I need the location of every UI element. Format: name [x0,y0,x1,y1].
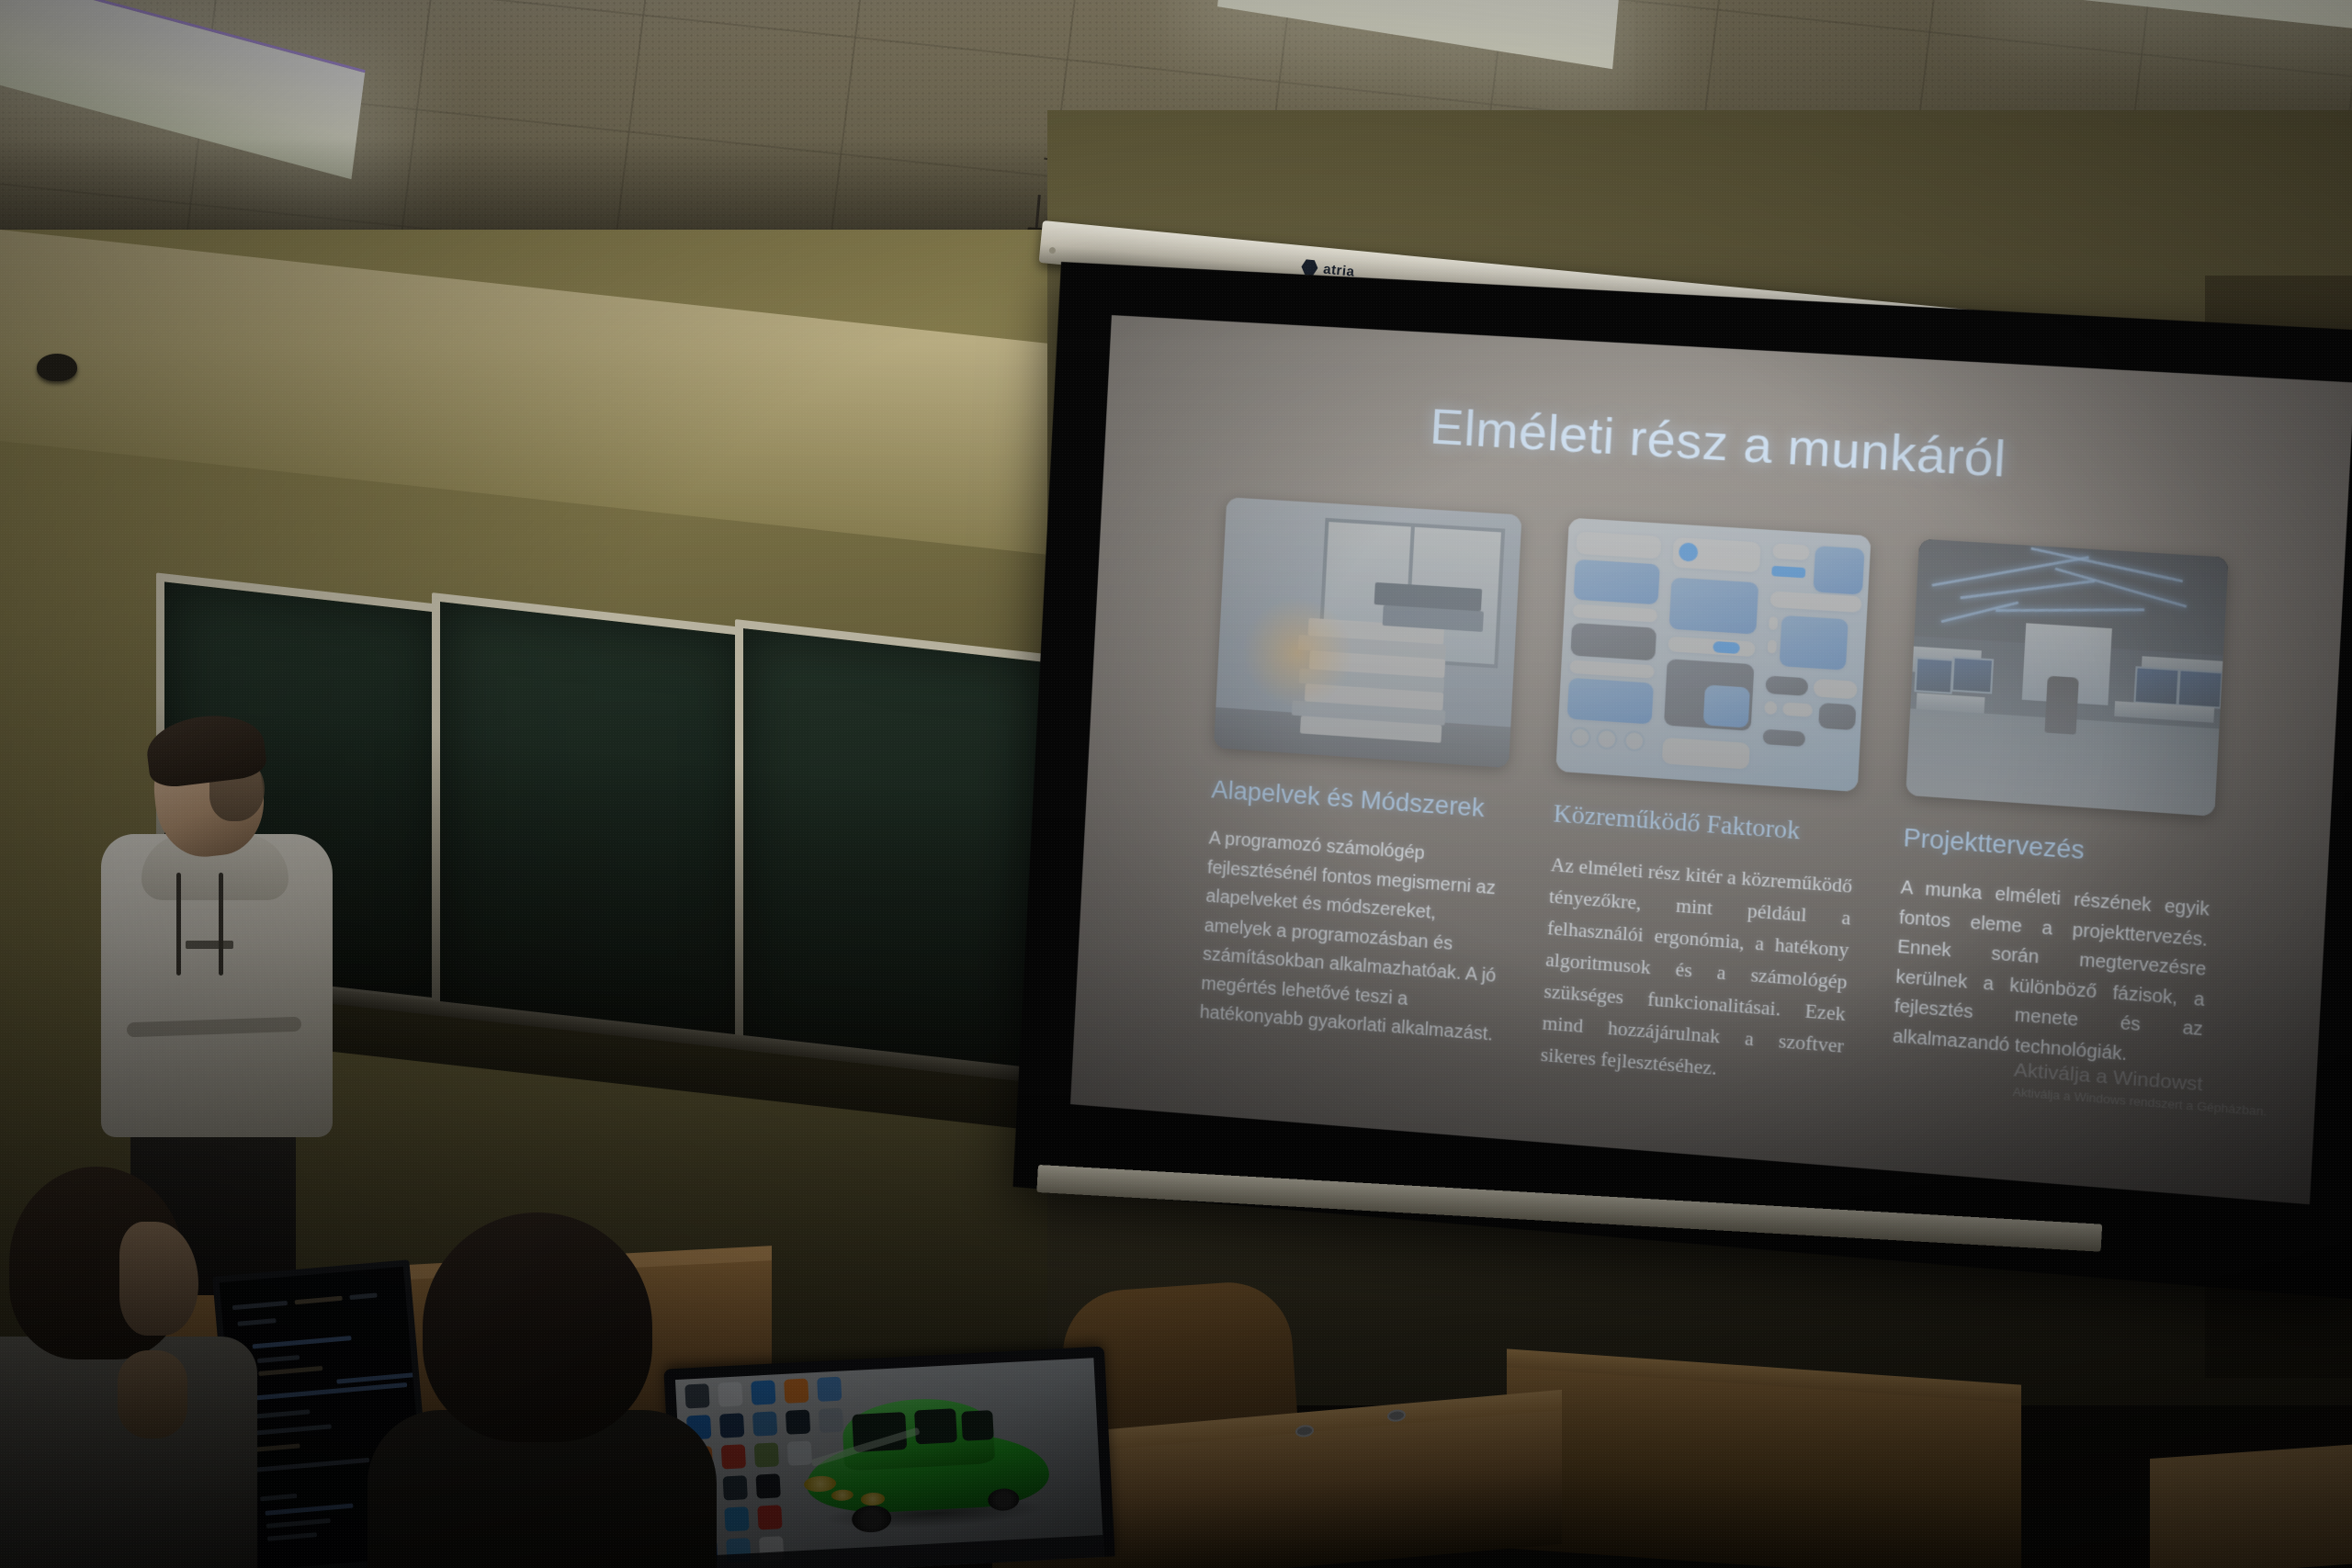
slide-column-2-heading: Közreműködő Faktorok [1553,799,1856,850]
student-centre [395,1213,698,1568]
slide: Elméleti rész a munkáról [1070,315,2352,1204]
slide-column-3: Projekttervezés A munka elméleti részéne… [1890,539,2229,1122]
student-centre-head [423,1213,652,1442]
chalkboard-panel-2 [432,592,752,1049]
laptop-centre-screen [675,1358,1104,1568]
slide-column-1: Alapelvek és Módszerek A programozó szám… [1198,497,1521,1066]
projection-screen[interactable]: Elméleti rész a munkáról [1012,262,2352,1301]
slide-column-1-body: A programozó számológép fejlesztésénél f… [1199,824,1504,1051]
wall-sensor-icon [37,354,77,381]
desk-far-right [2150,1444,2352,1568]
hoodie-string-right [219,873,223,976]
slide-image-office [1905,539,2228,817]
laptop-centre[interactable] [663,1347,1114,1568]
slide-column-3-body: A munka elméleti részének egyik fontos e… [1892,874,2210,1076]
classroom-scene: atria Elméleti rész a munkáról [0,0,2352,1568]
slide-column-3-heading: Projekttervezés [1903,824,2213,874]
housing-screw [1049,246,1057,254]
slide-image-books [1214,497,1522,768]
projection-surface: Elméleti rész a munkáról [1070,315,2352,1204]
slide-image-ui-mockups [1555,518,1871,793]
slide-columns: Alapelvek és Módszerek A programozó szám… [1198,497,2221,1122]
slide-column-2-body: Az elméleti rész kitér a közreműködő tén… [1540,849,1853,1094]
slide-title: Elméleti rész a munkáról [1105,379,2351,509]
hoodie-string-left [176,873,181,976]
slide-column-2: Közreműködő Faktorok Az elméleti rész ki… [1540,518,1871,1094]
student-left-face [119,1222,198,1336]
slide-column-1-heading: Alapelvek és Módszerek [1211,775,1508,825]
student-left-hand [118,1350,187,1438]
hoodie-logo [186,941,233,949]
student-left [0,1167,285,1568]
